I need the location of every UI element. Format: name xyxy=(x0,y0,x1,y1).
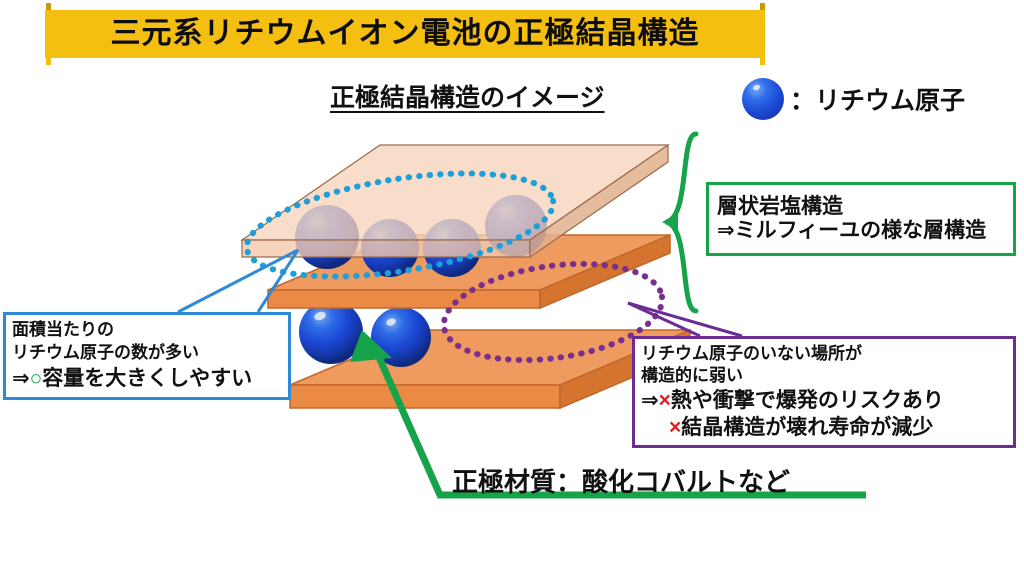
capacity-advantage-callout: 面積当たりの リチウム原子の数が多い ⇒○容量を大きくしやすい xyxy=(3,312,291,400)
cross-mark-icon-2: × xyxy=(669,416,681,439)
layered-structure-note-box: 層状岩塩構造 ⇒ミルフィーユの様な層構造 xyxy=(706,182,1016,256)
subtitle-heading: 正極結晶構造のイメージ xyxy=(330,78,605,114)
slide-canvas: 三元系リチウムイオン電池の正極結晶構造 正極結晶構造のイメージ ：リチウム原子 xyxy=(0,0,1024,576)
arrow-glyph: ⇒ xyxy=(641,389,659,412)
legend-label: ：リチウム原子 xyxy=(790,81,965,117)
callout-blue-line-2: リチウム原子の数が多い xyxy=(12,342,282,365)
highlight-ellipse-blue xyxy=(240,155,561,294)
callout-blue-line-3: ⇒○容量を大きくしやすい xyxy=(12,365,282,393)
box-purple-line-2: 構造的に弱い xyxy=(641,365,1007,387)
slab-top xyxy=(242,145,668,257)
callout-blue-line-1: 面積当たりの xyxy=(12,319,282,342)
page-title: 三元系リチウムイオン電池の正極結晶構造 xyxy=(111,19,700,49)
circle-mark-icon: ○ xyxy=(30,367,43,390)
box-purple-line-1: リチウム原子のいない場所が xyxy=(641,343,1007,365)
page-title-banner: 三元系リチウムイオン電池の正極結晶構造 xyxy=(45,10,765,58)
box-green-line-2: ⇒ミルフィーユの様な層構造 xyxy=(717,219,1005,243)
box-purple-line-4: ×結晶構造が壊れ寿命が減少 xyxy=(641,414,1007,441)
lithium-atom-sphere-icon xyxy=(742,78,784,120)
structural-weakness-note-box: リチウム原子のいない場所が 構造的に弱い ⇒×熱や衝撃で爆発のリスクあり ×結晶… xyxy=(632,336,1016,448)
box-green-line-1: 層状岩塩構造 xyxy=(717,195,1005,219)
lithium-atoms-top-layer xyxy=(295,195,547,277)
arrow-glyph: ⇒ xyxy=(12,367,30,390)
legend: ：リチウム原子 xyxy=(742,78,965,120)
slab-bottom xyxy=(290,330,690,408)
cross-mark-icon: × xyxy=(659,389,671,412)
slab-middle xyxy=(268,235,670,308)
box-purple-line-4-text: 結晶構造が壊れ寿命が減少 xyxy=(681,416,933,439)
cathode-material-caption: 正極材質：酸化コバルトなど xyxy=(452,462,790,499)
box-purple-line-3: ⇒×熱や衝撃で爆発のリスクあり xyxy=(641,387,1007,414)
callout-blue-pointer xyxy=(178,250,298,312)
lithium-atoms-bottom-layer xyxy=(299,300,431,367)
callout-blue-line-3-text: 容量を大きくしやすい xyxy=(42,367,252,390)
box-purple-line-3-text: 熱や衝撃で爆発のリスクあり xyxy=(671,389,944,412)
